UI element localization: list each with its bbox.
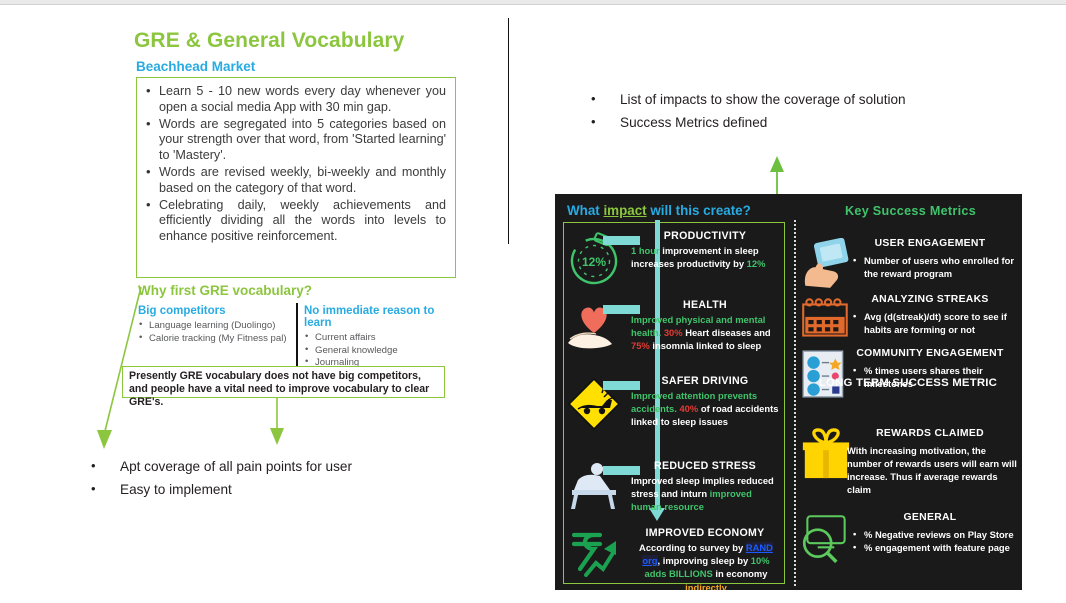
conclusion-box: Presently GRE vocabulary does not have b… (122, 366, 445, 398)
window-top-strip (0, 0, 1066, 5)
list-item: Words are segregated into 5 categories b… (145, 117, 446, 164)
big-competitors-heading: Big competitors (138, 305, 294, 317)
metric-body: Avg (d(streak)/dt) score to see if habit… (853, 310, 1021, 336)
list-item: Success Metrics defined (588, 111, 1008, 134)
beachhead-bullet-list: Learn 5 - 10 new words every day wheneve… (145, 84, 446, 244)
impact-header-pre: What (567, 203, 603, 218)
impact-body: According to survey by RAND org, improvi… (631, 541, 781, 590)
impact-segment: Improved sleep implies reduced stress an… (631, 475, 774, 499)
metrics-header: Key Success Metrics (845, 204, 976, 218)
dotted-column-divider (794, 220, 796, 586)
impact-segment: insomnia linked to sleep (650, 340, 761, 351)
no-immediate-reason-list: Current affairs General knowledge Journa… (304, 332, 458, 370)
page-title: GRE & General Vocabulary (134, 29, 404, 53)
impact-title: PRODUCTIVITY (631, 230, 779, 242)
metric-title: GENERAL (841, 512, 1019, 523)
list-item: Words are revised weekly, bi-weekly and … (145, 165, 446, 196)
list-item: General knowledge (304, 345, 458, 358)
list-item: Avg (d(streak)/dt) score to see if habit… (853, 310, 1021, 336)
impact-title: SAFER DRIVING (631, 375, 779, 387)
big-competitors-list: Language learning (Duolingo) Calorie tra… (138, 320, 294, 345)
impact-segment: 1 hour (631, 245, 660, 256)
metric-title: ANALYZING STREAKS (841, 294, 1019, 305)
impact-body: 1 hour improvement in sleep increases pr… (631, 244, 781, 270)
list-item: Celebrating daily, weekly achievements a… (145, 198, 446, 245)
metric-title: REWARDS CLAIMED (841, 428, 1019, 439)
column-separator (296, 303, 298, 371)
competitors-comparison: Big competitors Language learning (Duoli… (138, 305, 458, 367)
impact-segment: 30% (664, 327, 683, 338)
big-competitors-column: Big competitors Language learning (Duoli… (138, 305, 294, 345)
list-item: Language learning (Duolingo) (138, 320, 294, 333)
metric-description: With increasing motivation, the number o… (847, 444, 1021, 496)
impact-segment: Heart diseases and (683, 327, 771, 338)
metric-body: With increasing motivation, the number o… (847, 444, 1021, 496)
impact-segment: indirectly (685, 582, 727, 590)
metric-title: COMMUNITY ENGAGEMENT (841, 348, 1019, 359)
no-immediate-reason-column: No immediate reason to learn Current aff… (304, 305, 458, 370)
timer-value: 12% (582, 255, 606, 269)
why-first-gre-label: Why first GRE vocabulary? (138, 283, 312, 298)
list-item: % Negative reviews on Play Store (853, 528, 1021, 541)
metric-title: USER ENGAGEMENT (841, 238, 1019, 249)
list-item: Learn 5 - 10 new words every day wheneve… (145, 84, 446, 115)
beachhead-bullets-box: Learn 5 - 10 new words every day wheneve… (136, 77, 456, 278)
left-annotation-list: Apt coverage of all pain points for user… (88, 455, 418, 501)
impact-body: Improved physical and mental health. 30%… (631, 313, 781, 353)
no-immediate-reason-heading: No immediate reason to learn (304, 305, 458, 329)
impact-header-keyword: impact (603, 203, 646, 218)
rupee-growth-icon (563, 527, 625, 585)
impact-segment: 12% (747, 258, 766, 269)
metric-body: % Negative reviews on Play Store % engag… (853, 528, 1021, 554)
metric-body: Number of users who enrolled for the rew… (853, 254, 1021, 280)
list-item: Number of users who enrolled for the rew… (853, 254, 1021, 280)
impact-header-post: will this create? (647, 203, 751, 218)
arrow-to-easy-implement (265, 398, 289, 448)
arrow-to-left-annotations (88, 283, 158, 453)
infographic-panel: What impact will this create? Key Succes… (555, 194, 1022, 590)
impact-title: REDUCED STRESS (631, 460, 779, 472)
list-item: Easy to implement (88, 478, 418, 501)
list-item: Apt coverage of all pain points for user (88, 455, 418, 478)
impact-body: Improved attention prevents accidents. 4… (631, 389, 781, 429)
list-item: Calorie tracking (My Fitness pal) (138, 333, 294, 346)
impact-segment: , improving sleep by (658, 555, 751, 566)
impact-segment: in economy (713, 568, 768, 579)
impact-segment: According to survey by (639, 542, 746, 553)
long-term-success-metric-header: LONG TERM SUCCESS METRIC (795, 377, 1021, 389)
impact-segment: 75% (631, 340, 650, 351)
list-item: % engagement with feature page (853, 541, 1021, 554)
impact-segment: 40% (679, 403, 698, 414)
impact-body: Improved sleep implies reduced stress an… (631, 474, 781, 514)
list-item: Current affairs (304, 332, 458, 345)
impact-header: What impact will this create? (567, 203, 751, 218)
right-annotation-list: List of impacts to show the coverage of … (588, 88, 1008, 134)
list-item: List of impacts to show the coverage of … (588, 88, 1008, 111)
section-divider (508, 18, 509, 244)
impact-title: HEALTH (631, 299, 779, 311)
beachhead-market-label: Beachhead Market (136, 59, 255, 74)
impact-title: IMPROVED ECONOMY (631, 527, 779, 539)
